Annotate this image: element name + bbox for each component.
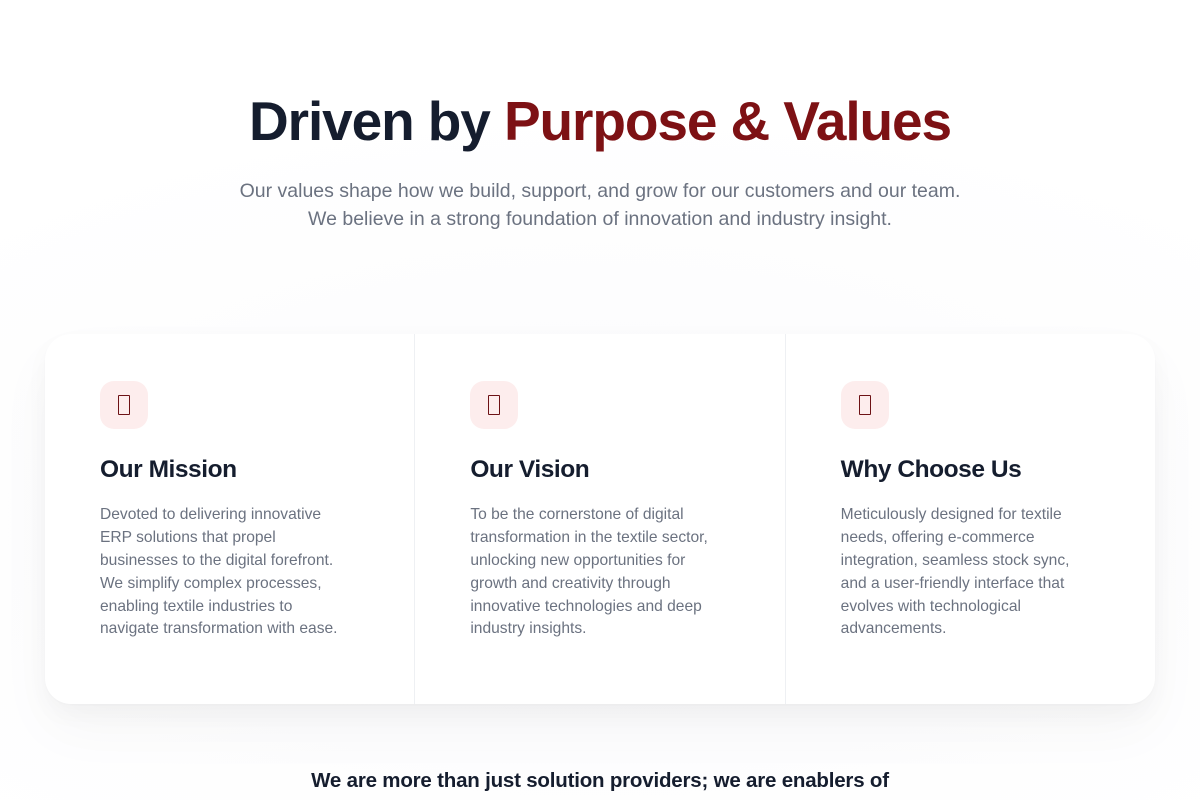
- card-description: Devoted to delivering innovative ERP sol…: [100, 504, 350, 641]
- card-title: Our Mission: [100, 455, 359, 484]
- missing-glyph-icon: [470, 381, 518, 429]
- values-page: Driven by Purpose & Values Our values sh…: [0, 0, 1200, 800]
- page-title: Driven by Purpose & Values: [0, 92, 1200, 151]
- card-description: Meticulously designed for textile needs,…: [841, 504, 1079, 641]
- value-card-vision[interactable]: Our Vision To be the cornerstone of digi…: [414, 334, 784, 704]
- page-subtitle: Our values shape how we build, support, …: [228, 177, 972, 233]
- card-title: Why Choose Us: [841, 455, 1100, 484]
- page-title-lead: Driven by: [249, 90, 504, 152]
- values-panel-wrapper: Our Mission Devoted to delivering innova…: [45, 334, 1155, 704]
- card-title: Our Vision: [470, 455, 729, 484]
- tofu-box: [859, 395, 871, 415]
- tofu-box: [118, 395, 130, 415]
- closing-statement-text: We are more than just solution providers…: [280, 766, 920, 796]
- page-title-accent: Purpose & Values: [504, 90, 951, 152]
- tofu-box: [488, 395, 500, 415]
- closing-statement: We are more than just solution providers…: [0, 766, 1200, 796]
- hero-section: Driven by Purpose & Values Our values sh…: [0, 0, 1200, 233]
- values-panel: Our Mission Devoted to delivering innova…: [45, 334, 1155, 704]
- card-description: To be the cornerstone of digital transfo…: [470, 504, 722, 641]
- missing-glyph-icon: [841, 381, 889, 429]
- missing-glyph-icon: [100, 381, 148, 429]
- value-card-mission[interactable]: Our Mission Devoted to delivering innova…: [45, 334, 414, 704]
- value-card-why-choose-us[interactable]: Why Choose Us Meticulously designed for …: [785, 334, 1155, 704]
